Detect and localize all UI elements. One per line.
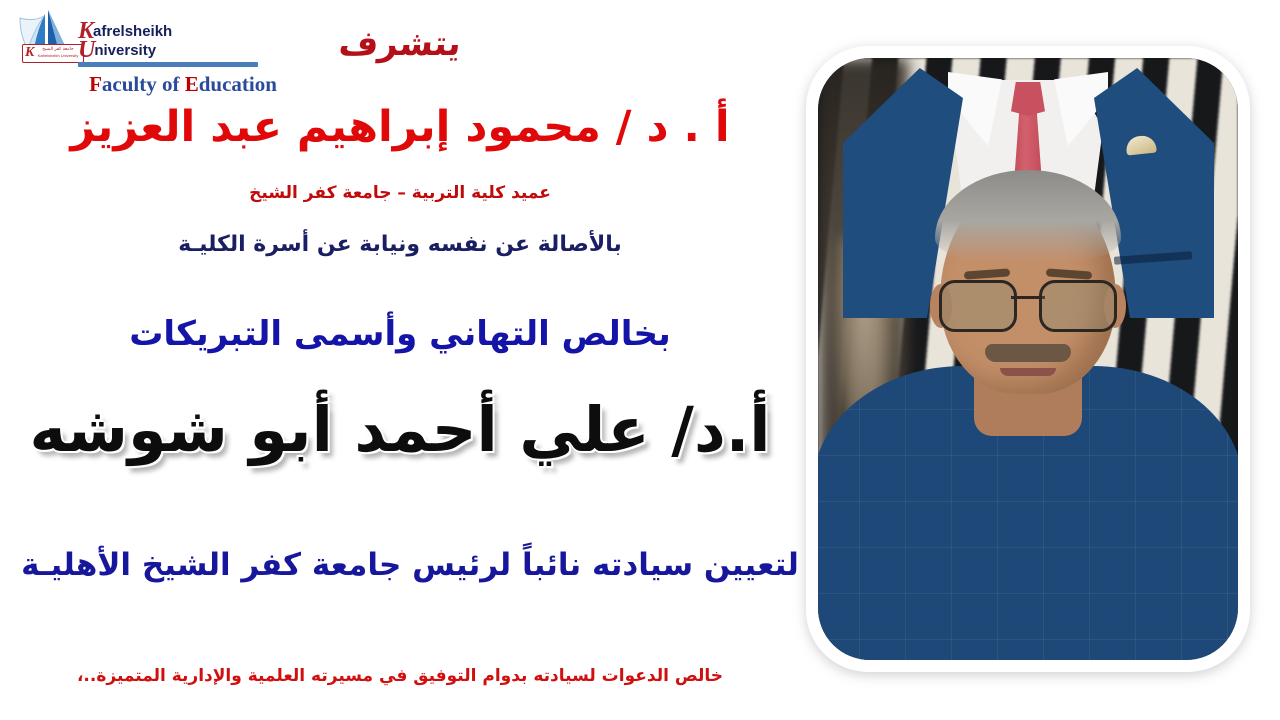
greeting-line: بخالص التهاني وأسمى التبريكات — [0, 308, 800, 360]
portrait-frame — [806, 46, 1250, 672]
faculty-name: Faculty of Education — [68, 72, 298, 97]
on-behalf-line: بالأصالة عن نفسه ونيابة عن أسرة الكليـة — [0, 228, 800, 262]
sender-name: أ . د / محمود إبراهيم عبد العزيز — [0, 96, 800, 158]
eyeglass-lens-left — [939, 280, 1017, 332]
necktie-knot — [1011, 82, 1045, 116]
sender-title: عميد كلية التربية – جامعة كفر الشيخ — [0, 180, 800, 206]
honoree-name: أ.د/ علي أحمد أبو شوشه — [0, 382, 800, 478]
faculty-dropcap-e: E — [185, 72, 199, 96]
moustache — [985, 344, 1071, 362]
honorific-verb: يتشرف — [0, 22, 802, 66]
honoree-photo — [818, 58, 1238, 660]
congratulation-card: K جامعة كفر الشيخ Kafrelsheikh Universit… — [0, 0, 1280, 720]
closing-wishes: خالص الدعوات لسيادته بدوام التوفيق في مس… — [0, 662, 800, 690]
faculty-text-2: ducation — [199, 72, 277, 96]
appointment-reason: لتعيين سيادته نائباً لرئيس جامعة كفر الش… — [0, 540, 820, 590]
mouth — [1000, 368, 1056, 376]
faculty-text-1: aculty of — [102, 72, 185, 96]
faculty-dropcap-f: F — [89, 72, 102, 96]
eyeglass-lens-right — [1039, 280, 1117, 332]
eyeglasses-icon — [939, 280, 1117, 328]
